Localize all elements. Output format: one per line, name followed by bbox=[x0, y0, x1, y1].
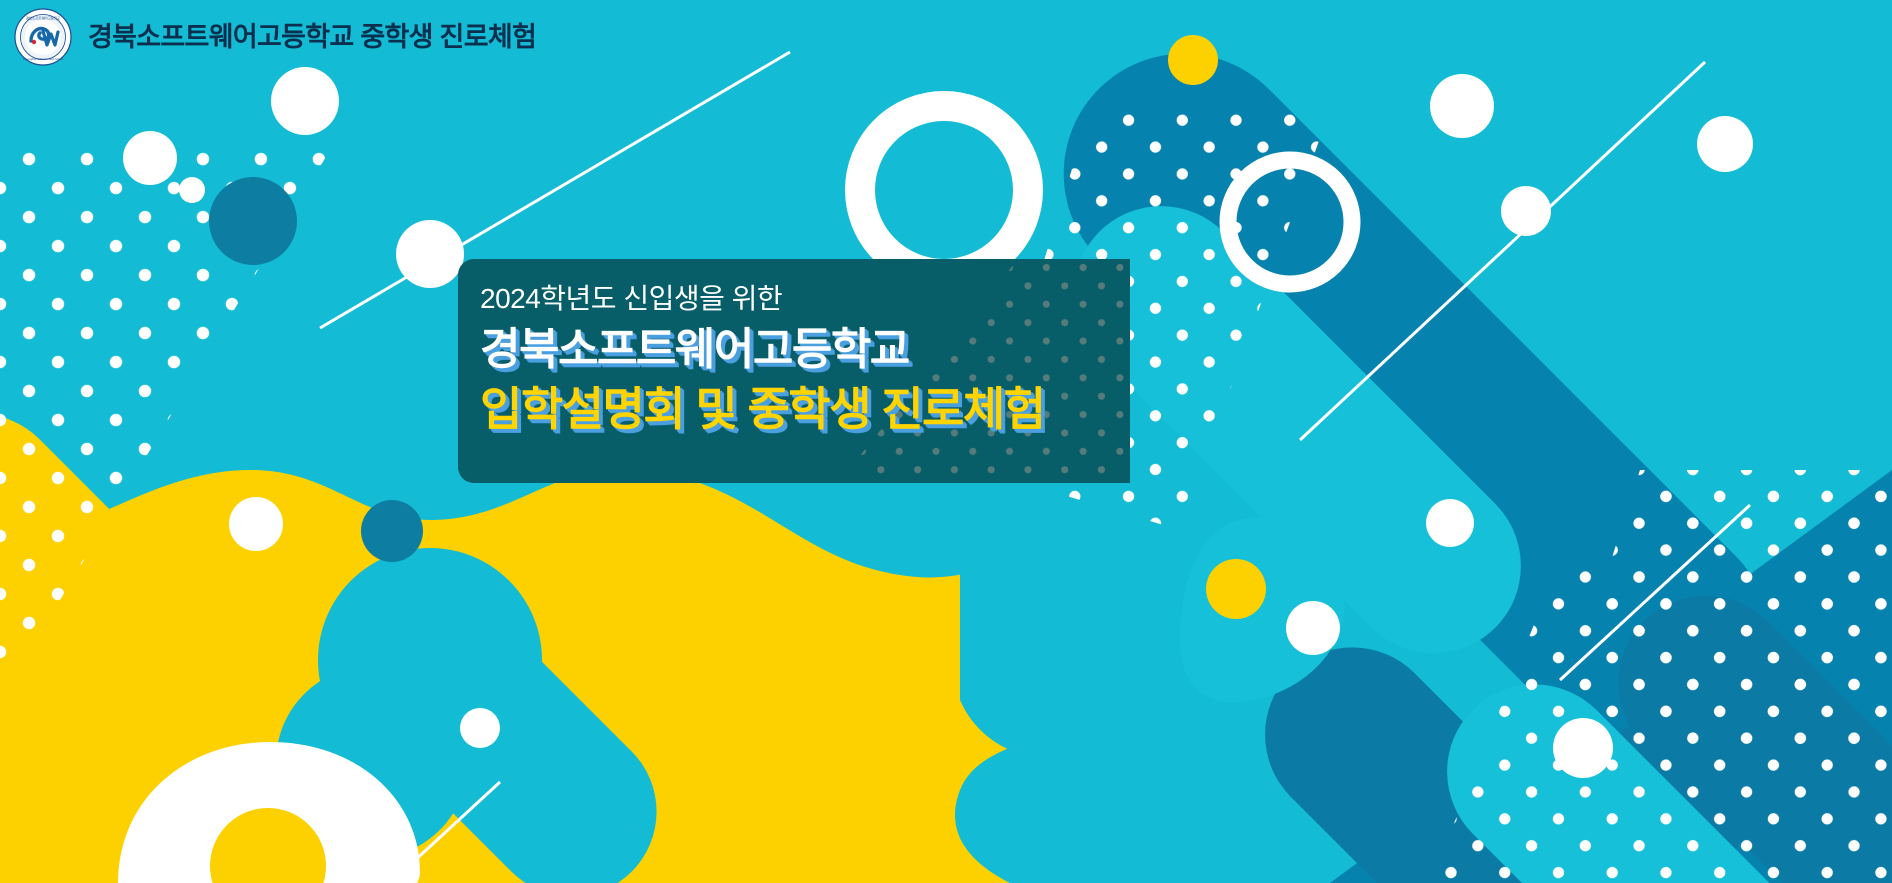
svg-text:경북소프트웨어고등학교: 경북소프트웨어고등학교 bbox=[26, 16, 60, 21]
promo-banner: 2024학년도 신입생을 위한 경북소프트웨어고등학교 입학설명회 및 중학생 … bbox=[0, 0, 1892, 883]
banner-header: 경북소프트웨어고등학교 Gyeongbuk Software High Scho… bbox=[0, 0, 536, 66]
svg-text:Gyeongbuk Software High School: Gyeongbuk Software High School bbox=[23, 57, 64, 61]
banner-header-title: 경북소프트웨어고등학교 중학생 진로체험 bbox=[88, 24, 536, 51]
hero-title-line-1: 경북소프트웨어고등학교 bbox=[480, 325, 1130, 374]
hero-text-block: 2024학년도 신입생을 위한 경북소프트웨어고등학교 입학설명회 및 중학생 … bbox=[480, 281, 1130, 436]
hero-eyebrow: 2024학년도 신입생을 위한 bbox=[480, 281, 1130, 316]
school-emblem-icon: 경북소프트웨어고등학교 Gyeongbuk Software High Scho… bbox=[14, 8, 72, 66]
hero-panel: 2024학년도 신입생을 위한 경북소프트웨어고등학교 입학설명회 및 중학생 … bbox=[458, 259, 1130, 483]
hero-title-line-2: 입학설명회 및 중학생 진로체험 bbox=[480, 384, 1130, 436]
